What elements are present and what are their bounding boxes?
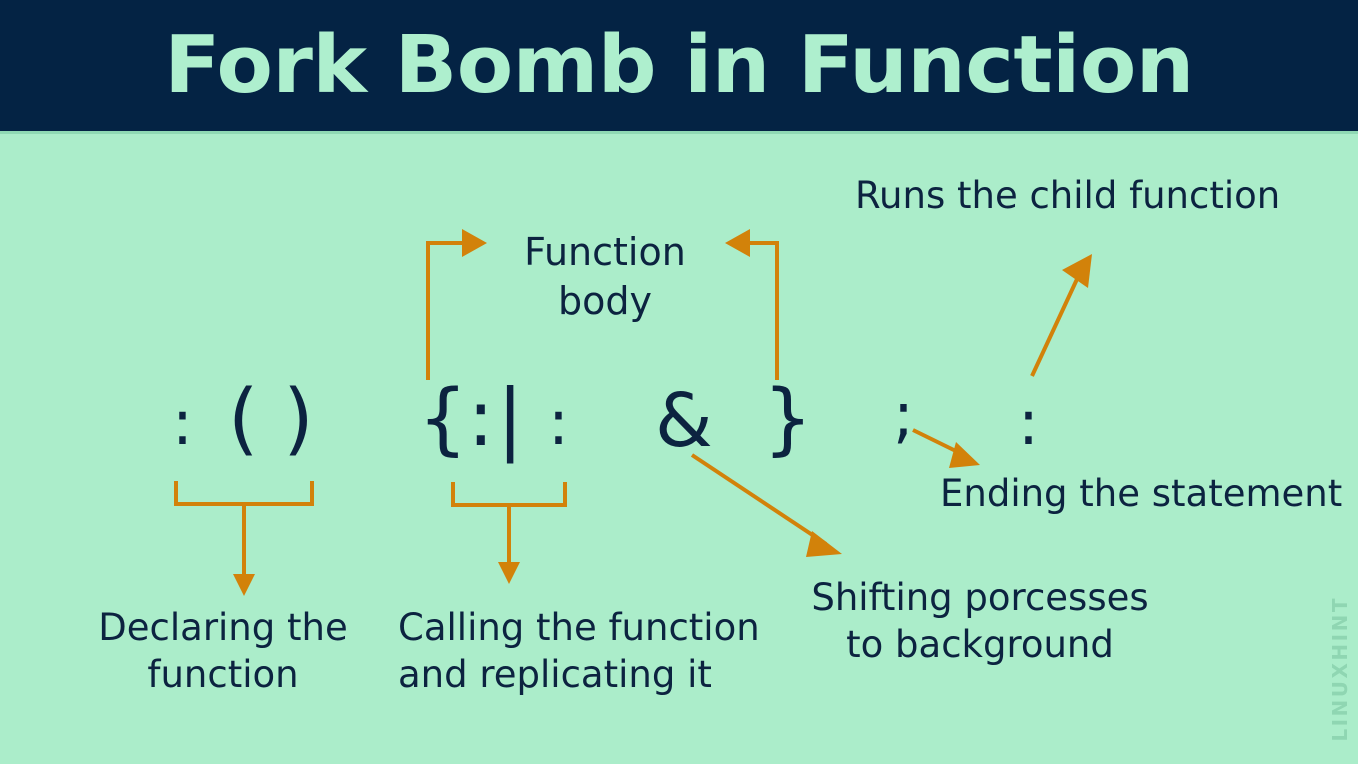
code-token-parens: ( )	[228, 380, 314, 458]
code-token-brace-colon: {:	[418, 380, 494, 458]
code-token-ampersand: &	[655, 384, 713, 458]
code-token-semicolon: ;	[893, 384, 914, 446]
code-token-colon-2: :	[548, 392, 569, 454]
code-token-close-brace: }	[763, 380, 813, 458]
annotation-runs-child-function: Runs the child function	[855, 172, 1295, 219]
arrow-ampersand-to-background	[692, 455, 842, 557]
annotation-shifting-processes: Shifting porcesses to background	[800, 574, 1160, 669]
annotation-function-body: Function body	[505, 228, 705, 325]
header-divider	[0, 131, 1358, 134]
annotation-declaring-the-function: Declaring the function	[78, 604, 368, 699]
brace-calling-function	[453, 482, 565, 584]
header-bar: Fork Bomb in Function	[0, 0, 1358, 131]
elbow-right-to-function-body	[725, 229, 777, 380]
annotation-calling-the-function: Calling the function and replicating it	[398, 604, 778, 699]
annotation-ending-the-statement: Ending the statement	[940, 470, 1350, 517]
code-token-colon-3: :	[1018, 392, 1039, 454]
elbow-left-to-function-body	[428, 229, 487, 380]
code-token-colon-1: :	[172, 392, 193, 454]
code-token-pipe: |	[497, 380, 523, 458]
linuxhint-watermark: LINUXHINT	[1328, 596, 1352, 742]
brace-declaring-function	[176, 481, 312, 596]
infographic-page: Fork Bomb in Function	[0, 0, 1358, 764]
arrow-colon-to-runs-child	[1032, 254, 1092, 376]
arrow-semicolon-to-ending	[913, 430, 980, 468]
page-title: Fork Bomb in Function	[164, 26, 1194, 105]
